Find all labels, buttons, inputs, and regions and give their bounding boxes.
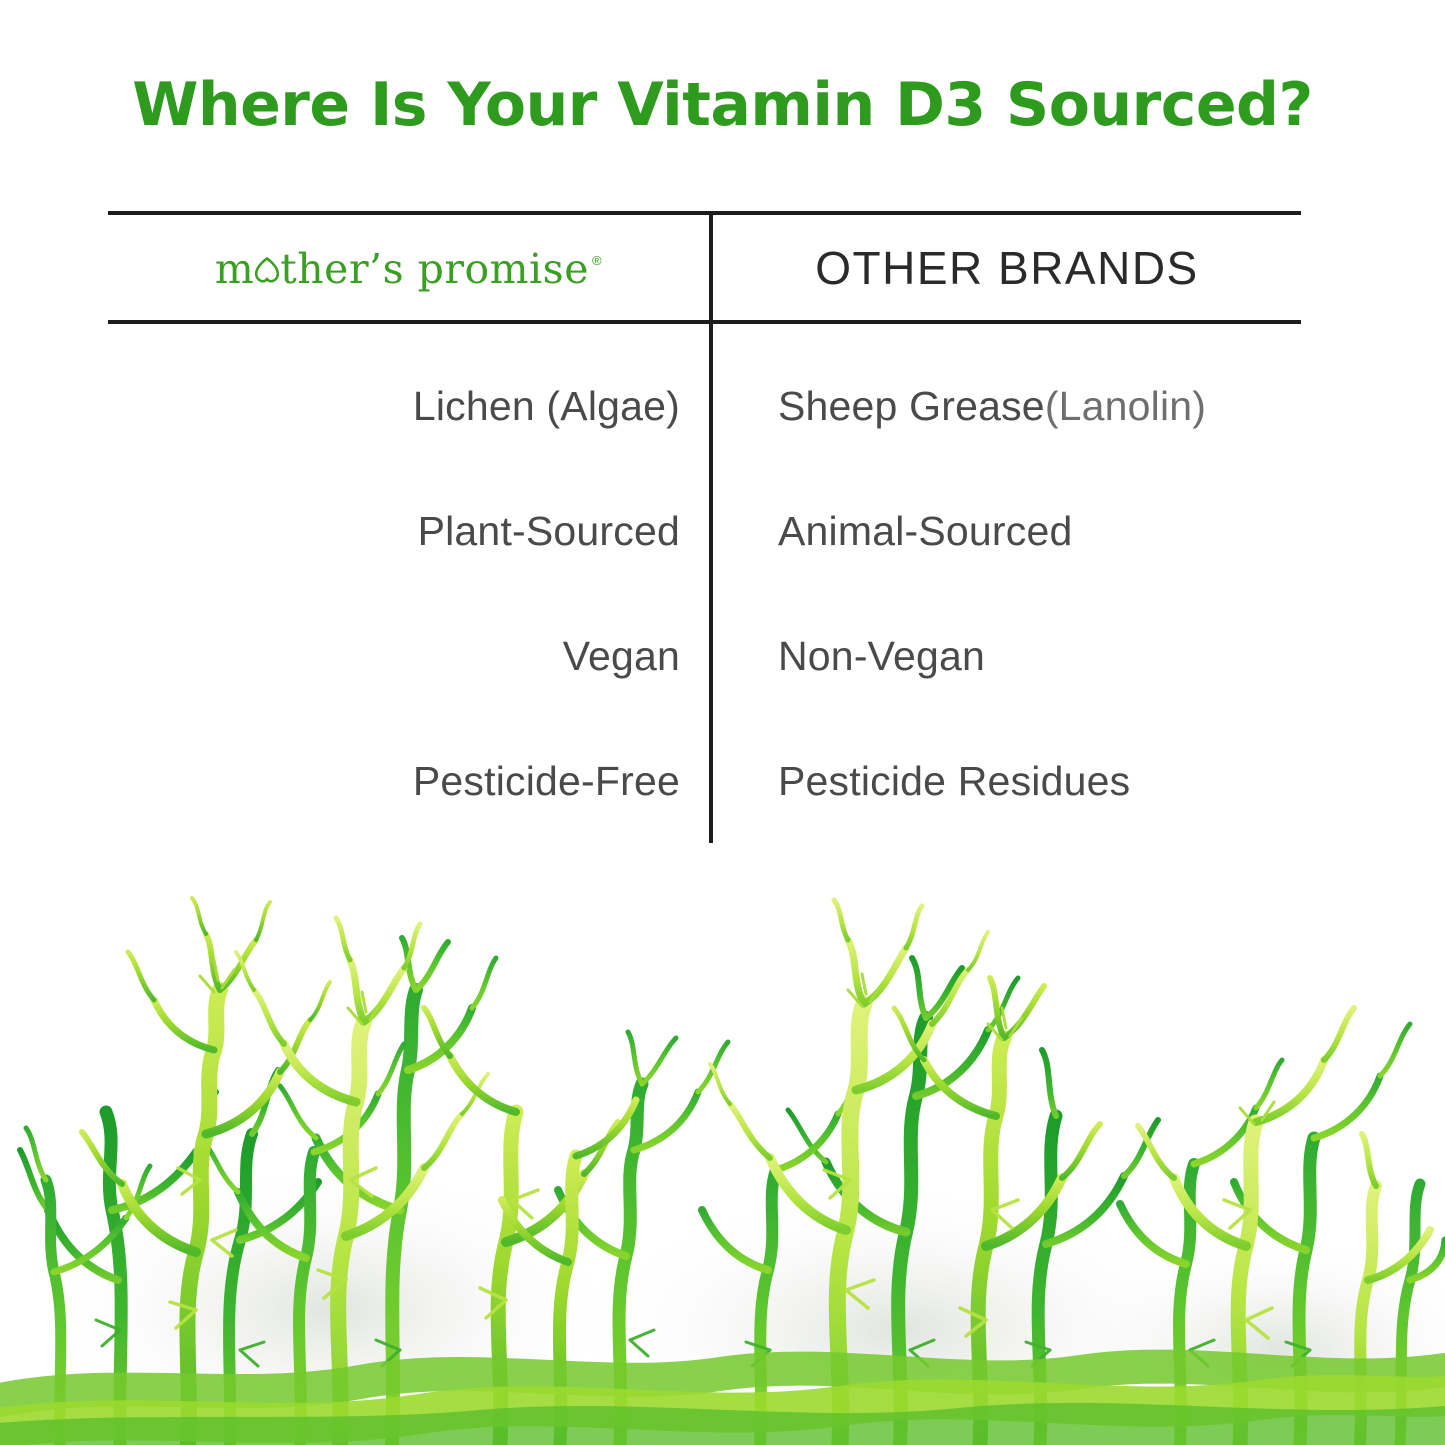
logo-text-part2: ther’s promise: [280, 249, 589, 290]
comparison-table: m ther’s promise® OTHER BRANDS Lichen (A…: [108, 205, 1301, 850]
column-header-other-brands: OTHER BRANDS: [713, 215, 1301, 320]
lichen-photo: [0, 880, 1445, 1445]
table-body: Lichen (Algae) Sheep Grease (Lanolin) Pl…: [108, 324, 1301, 843]
cell-mothers-promise: Vegan: [108, 594, 680, 718]
other-brands-label: OTHER BRANDS: [815, 241, 1198, 295]
heart-icon: [254, 256, 280, 286]
cell-other-brands: Pesticide Residues: [778, 719, 1301, 843]
cell-mothers-promise: Plant-Sourced: [108, 469, 680, 593]
infographic-page: Where Is Your Vitamin D3 Sourced? m ther…: [0, 0, 1445, 1445]
cell-other-brands-main: Pesticide Residues: [778, 758, 1130, 805]
logo-text-part1: m: [215, 249, 254, 290]
cell-other-brands: Non-Vegan: [778, 594, 1301, 718]
cell-other-brands: Sheep Grease (Lanolin): [778, 344, 1301, 468]
cell-other-brands: Animal-Sourced: [778, 469, 1301, 593]
table-header-row: m ther’s promise® OTHER BRANDS: [108, 215, 1301, 320]
table-row: Plant-Sourced Animal-Sourced: [108, 469, 1301, 593]
registered-trademark-symbol: ®: [592, 254, 602, 267]
column-header-mothers-promise: m ther’s promise®: [108, 215, 709, 320]
cell-other-brands-main: Animal-Sourced: [778, 508, 1073, 555]
mothers-promise-logo: m ther’s promise®: [215, 249, 602, 290]
cell-mothers-promise: Lichen (Algae): [108, 344, 680, 468]
cell-other-brands-main: Non-Vegan: [778, 633, 985, 680]
cell-other-brands-qualifier: (Lanolin): [1045, 383, 1206, 430]
cell-mothers-promise: Pesticide-Free: [108, 719, 680, 843]
table-row: Vegan Non-Vegan: [108, 594, 1301, 718]
table-row: Lichen (Algae) Sheep Grease (Lanolin): [108, 344, 1301, 468]
page-title: Where Is Your Vitamin D3 Sourced?: [0, 72, 1445, 138]
table-row: Pesticide-Free Pesticide Residues: [108, 719, 1301, 843]
cell-other-brands-main: Sheep Grease: [778, 383, 1045, 430]
